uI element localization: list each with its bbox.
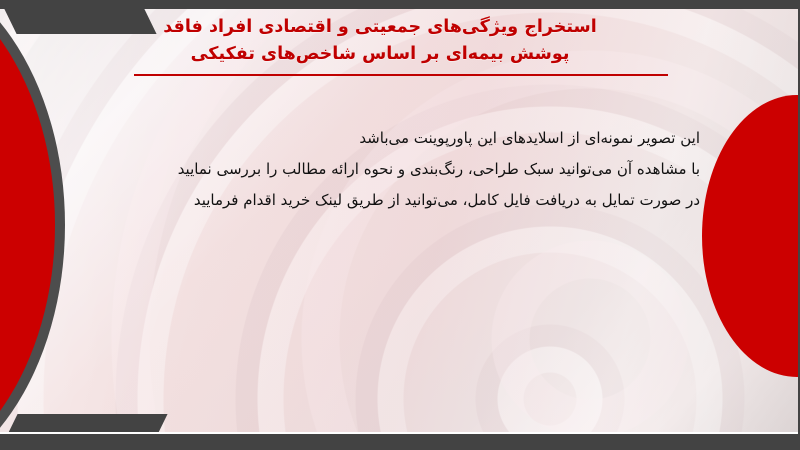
- slide-content: استخراج ویژگی‌های جمعیتی و اقتصادی افراد…: [0, 0, 800, 450]
- body-line-1: این تصویر نمونه‌ای از اسلایدهای این پاور…: [110, 123, 700, 154]
- body-line-2: با مشاهده آن می‌توانید سبک طراحی، رنگ‌بن…: [110, 154, 700, 185]
- slide-body-text: این تصویر نمونه‌ای از اسلایدهای این پاور…: [110, 123, 700, 215]
- title-underline-rule: [134, 74, 668, 76]
- slide-title-line-2: پوشش بیمه‌ای بر اساس شاخص‌های تفکیکی: [80, 41, 680, 68]
- body-line-3: در صورت تمایل به دریافت فایل کامل، می‌تو…: [110, 185, 700, 216]
- top-frame-band: [0, 0, 800, 9]
- presentation-slide: استخراج ویژگی‌های جمعیتی و اقتصادی افراد…: [0, 0, 800, 450]
- bottom-frame-band: [0, 432, 800, 450]
- slide-title-line-1: استخراج ویژگی‌های جمعیتی و اقتصادی افراد…: [80, 14, 680, 41]
- slide-title: استخراج ویژگی‌های جمعیتی و اقتصادی افراد…: [80, 14, 680, 68]
